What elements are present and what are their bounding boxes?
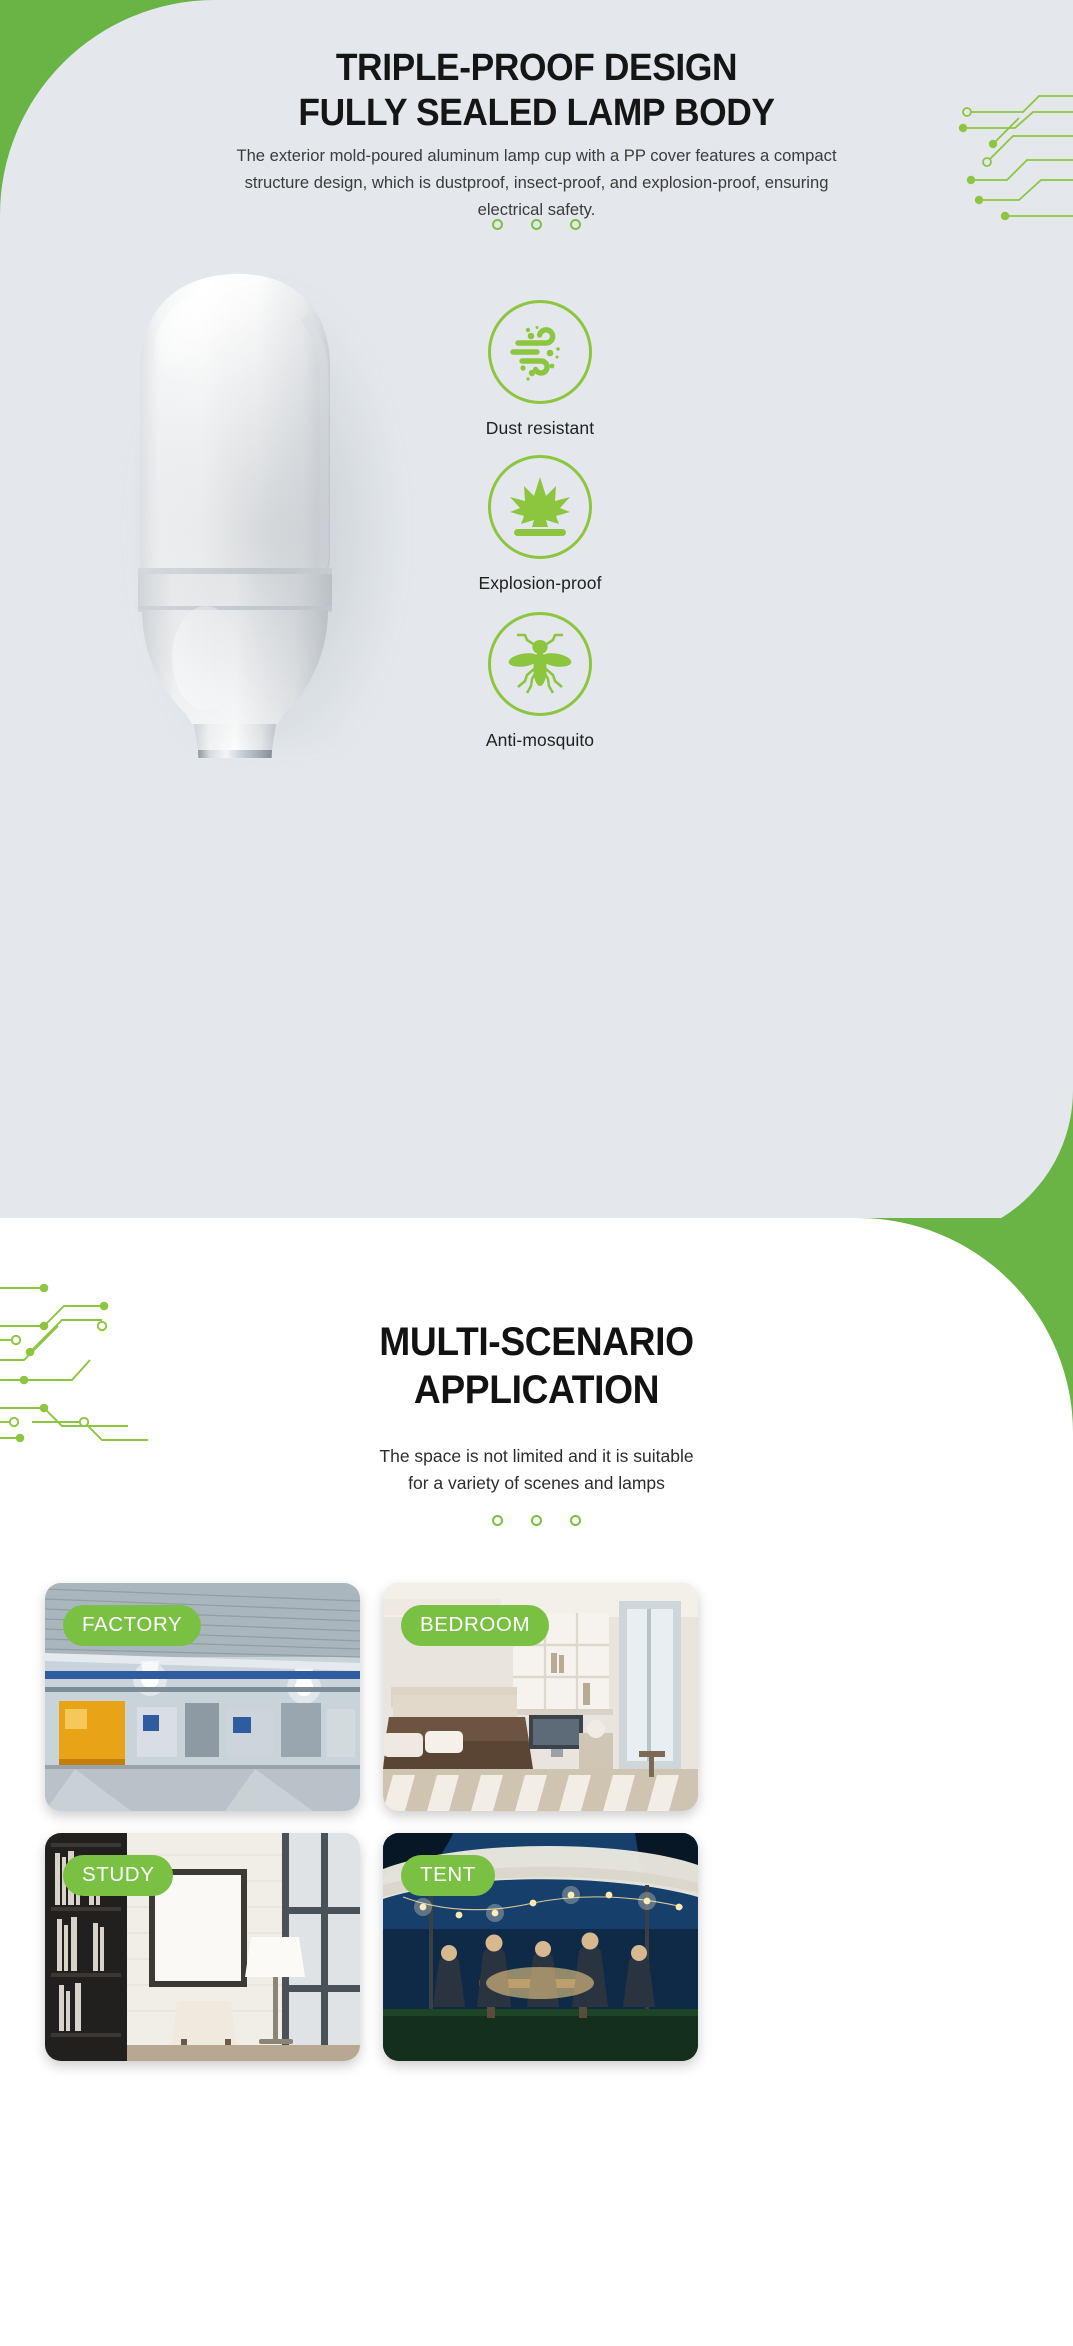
separator-dot [531, 1515, 542, 1526]
scene-tile-factory[interactable]: FACTORY [45, 1583, 360, 1811]
scene-badge: STUDY [63, 1855, 173, 1896]
feature-anti-mosquito: Anti-mosquito [410, 612, 670, 751]
separator-dot [531, 219, 542, 230]
section1-description: The exterior mold-poured aluminum lamp c… [227, 142, 847, 223]
feature-icon-circle [488, 300, 592, 404]
multi-scenario-section: MULTI-SCENARIO APPLICATION The space is … [0, 1218, 1073, 2346]
section2-title-line2: APPLICATION [38, 1366, 1036, 1414]
led-bulb-product-image [98, 258, 428, 758]
scene-badge: TENT [401, 1855, 495, 1896]
separator-dot [570, 1515, 581, 1526]
section1-title-line1: TRIPLE-PROOF DESIGN [38, 46, 1036, 91]
scene-tile-study[interactable]: STUDY [45, 1833, 360, 2061]
feature-label: Dust resistant [410, 418, 670, 439]
feature-dust-resistant: Dust resistant [410, 300, 670, 439]
separator-dot [492, 219, 503, 230]
scene-badge: FACTORY [63, 1605, 201, 1646]
scene-tile-tent[interactable]: TENT [383, 1833, 698, 2061]
scene-photo-grid: FACTORY [45, 1583, 1028, 2061]
section2-description-line2: for a variety of scenes and lamps [257, 1470, 817, 1497]
feature-icon-circle [488, 612, 592, 716]
scene-tile-bedroom[interactable]: BEDROOM [383, 1583, 698, 1811]
separator-dot [492, 1515, 503, 1526]
explosion-burst-icon [506, 475, 574, 539]
bulb-drop-shadow [122, 268, 412, 748]
feature-icon-circle [488, 455, 592, 559]
feature-label: Explosion-proof [410, 573, 670, 594]
separator-dot [570, 219, 581, 230]
section2-title: MULTI-SCENARIO APPLICATION [38, 1318, 1036, 1414]
section2-title-line1: MULTI-SCENARIO [38, 1318, 1036, 1366]
section2-description-line1: The space is not limited and it is suita… [257, 1443, 817, 1470]
section2-dot-separator [0, 1515, 1073, 1526]
section1-title: TRIPLE-PROOF DESIGN FULLY SEALED LAMP BO… [38, 46, 1036, 136]
section2-description: The space is not limited and it is suita… [257, 1443, 817, 1498]
section1-dot-separator [0, 219, 1073, 230]
feature-explosion-proof: Explosion-proof [410, 455, 670, 594]
triple-proof-section: TRIPLE-PROOF DESIGN FULLY SEALED LAMP BO… [0, 0, 1073, 1240]
wind-dust-icon [506, 318, 574, 386]
section1-title-line2: FULLY SEALED LAMP BODY [38, 91, 1036, 136]
mosquito-icon [505, 631, 575, 697]
feature-label: Anti-mosquito [410, 730, 670, 751]
scene-badge: BEDROOM [401, 1605, 549, 1646]
